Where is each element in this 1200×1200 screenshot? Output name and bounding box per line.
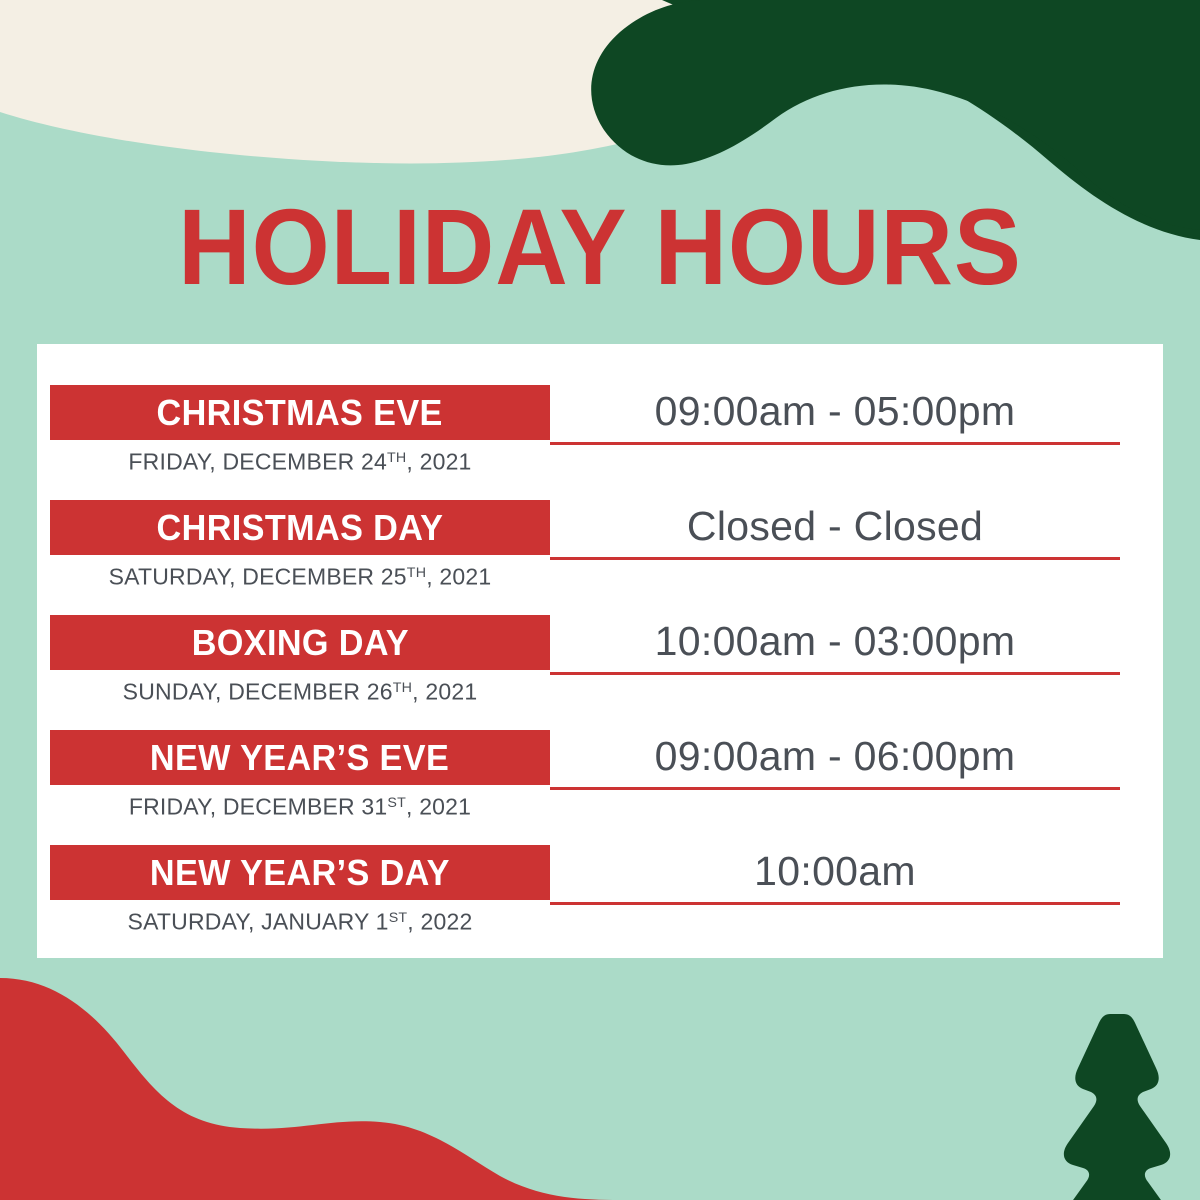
page-title: HOLIDAY HOURS xyxy=(42,188,1158,306)
holiday-date-ordinal: TH xyxy=(393,680,412,696)
holiday-date-year: , 2021 xyxy=(426,563,491,589)
holiday-date-year: , 2021 xyxy=(412,678,477,704)
holiday-date-ordinal: ST xyxy=(387,795,406,811)
schedule-rows: CHRISTMAS EVE 09:00am - 05:00pm FRIDAY, … xyxy=(37,344,1163,958)
schedule-row: CHRISTMAS DAY Closed - Closed SATURDAY, … xyxy=(37,500,1163,615)
holiday-hours-poster: HOLIDAY HOURS CHRISTMAS EVE 09:00am - 05… xyxy=(0,0,1200,1200)
holiday-hours: 10:00am - 03:00pm xyxy=(655,618,1016,664)
holiday-name: BOXING DAY xyxy=(191,624,408,662)
holiday-date-year: , 2021 xyxy=(406,793,471,819)
holiday-date-ordinal: ST xyxy=(389,910,408,926)
holiday-hours: 09:00am - 05:00pm xyxy=(655,388,1016,434)
holiday-name-bar: CHRISTMAS EVE xyxy=(50,385,550,440)
holiday-date: FRIDAY, DECEMBER 31ST, 2021 xyxy=(50,786,550,823)
holiday-hours: Closed - Closed xyxy=(687,503,983,549)
holiday-date-prefix: SUNDAY, DECEMBER 26 xyxy=(123,678,393,704)
holiday-date-year: , 2022 xyxy=(407,908,472,934)
holiday-hours: 09:00am - 06:00pm xyxy=(655,733,1016,779)
holiday-date: SATURDAY, DECEMBER 25TH, 2021 xyxy=(50,556,550,593)
holiday-name-bar: CHRISTMAS DAY xyxy=(50,500,550,555)
holiday-date-year: , 2021 xyxy=(406,448,471,474)
holiday-hours-cell: Closed - Closed xyxy=(550,500,1120,560)
holiday-date-prefix: FRIDAY, DECEMBER 24 xyxy=(128,448,387,474)
schedule-row: CHRISTMAS EVE 09:00am - 05:00pm FRIDAY, … xyxy=(37,385,1163,500)
holiday-hours: 10:00am xyxy=(754,848,916,894)
holiday-name-bar: NEW YEAR’S DAY xyxy=(50,845,550,900)
schedule-row: BOXING DAY 10:00am - 03:00pm SUNDAY, DEC… xyxy=(37,615,1163,730)
holiday-date-ordinal: TH xyxy=(407,565,426,581)
holiday-name-bar: BOXING DAY xyxy=(50,615,550,670)
holiday-name: NEW YEAR’S EVE xyxy=(150,739,449,777)
schedule-row: NEW YEAR’S DAY 10:00am SATURDAY, JANUARY… xyxy=(37,845,1163,960)
holiday-date: SATURDAY, JANUARY 1ST, 2022 xyxy=(50,901,550,938)
holiday-date: FRIDAY, DECEMBER 24TH, 2021 xyxy=(50,441,550,478)
holiday-name: CHRISTMAS DAY xyxy=(157,509,444,547)
holiday-hours-cell: 10:00am xyxy=(550,845,1120,905)
holiday-date-ordinal: TH xyxy=(387,450,406,466)
holiday-hours-cell: 10:00am - 03:00pm xyxy=(550,615,1120,675)
holiday-hours-cell: 09:00am - 05:00pm xyxy=(550,385,1120,445)
schedule-row: NEW YEAR’S EVE 09:00am - 06:00pm FRIDAY,… xyxy=(37,730,1163,845)
holiday-date-prefix: SATURDAY, JANUARY 1 xyxy=(128,908,389,934)
holiday-name: CHRISTMAS EVE xyxy=(157,394,443,432)
holiday-hours-cell: 09:00am - 06:00pm xyxy=(550,730,1120,790)
holiday-name-bar: NEW YEAR’S EVE xyxy=(50,730,550,785)
holiday-date-prefix: SATURDAY, DECEMBER 25 xyxy=(109,563,407,589)
schedule-card: CHRISTMAS EVE 09:00am - 05:00pm FRIDAY, … xyxy=(37,344,1163,958)
holiday-date: SUNDAY, DECEMBER 26TH, 2021 xyxy=(50,671,550,708)
holiday-name: NEW YEAR’S DAY xyxy=(150,854,450,892)
holiday-date-prefix: FRIDAY, DECEMBER 31 xyxy=(129,793,388,819)
